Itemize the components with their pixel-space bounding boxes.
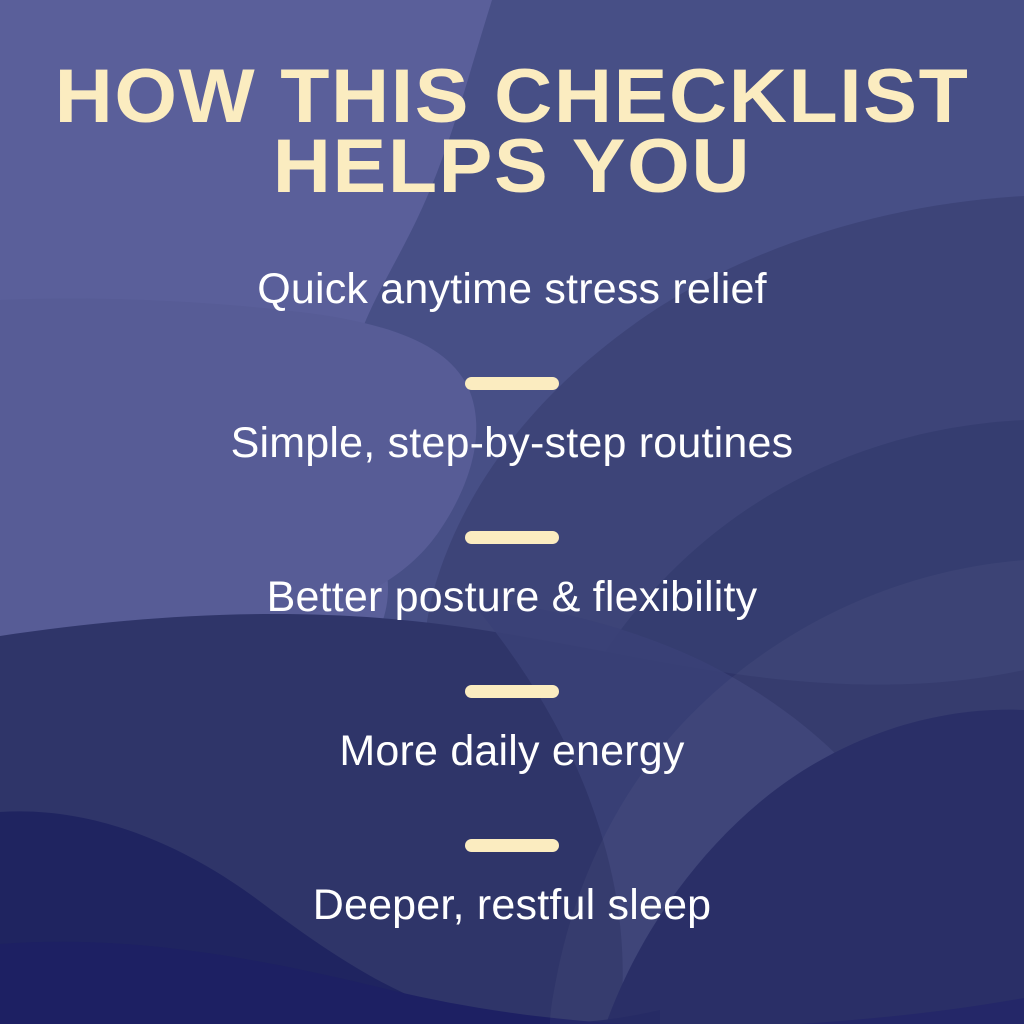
benefit-label: Simple, step-by-step routines [0,422,1024,465]
page-title-line-2: HELPS YOU [0,132,1024,202]
benefit-item-5: Deeper, restful sleep [0,884,1024,962]
benefit-item-4: More daily energy [0,730,1024,808]
page-title: HOW THIS CHECKLIST HELPS YOU [0,62,1024,202]
benefit-divider-2 [0,500,1024,576]
benefit-divider-4 [0,808,1024,884]
benefit-label: Quick anytime stress relief [0,268,1024,311]
benefit-item-3: Better posture & flexibility [0,576,1024,654]
poster-content: HOW THIS CHECKLIST HELPS YOU Quick anyti… [0,0,1024,1024]
divider-pill-icon [465,531,559,544]
benefit-label: Better posture & flexibility [0,576,1024,619]
benefit-label: More daily energy [0,730,1024,773]
page-title-line-1: HOW THIS CHECKLIST [0,62,1024,132]
benefit-divider-3 [0,654,1024,730]
benefit-item-2: Simple, step-by-step routines [0,422,1024,500]
divider-pill-icon [465,685,559,698]
benefit-list: Quick anytime stress relief Simple, step… [0,268,1024,962]
benefit-label: Deeper, restful sleep [0,884,1024,927]
divider-pill-icon [465,377,559,390]
divider-pill-icon [465,839,559,852]
poster-canvas: HOW THIS CHECKLIST HELPS YOU Quick anyti… [0,0,1024,1024]
benefit-item-1: Quick anytime stress relief [0,268,1024,346]
benefit-divider-1 [0,346,1024,422]
